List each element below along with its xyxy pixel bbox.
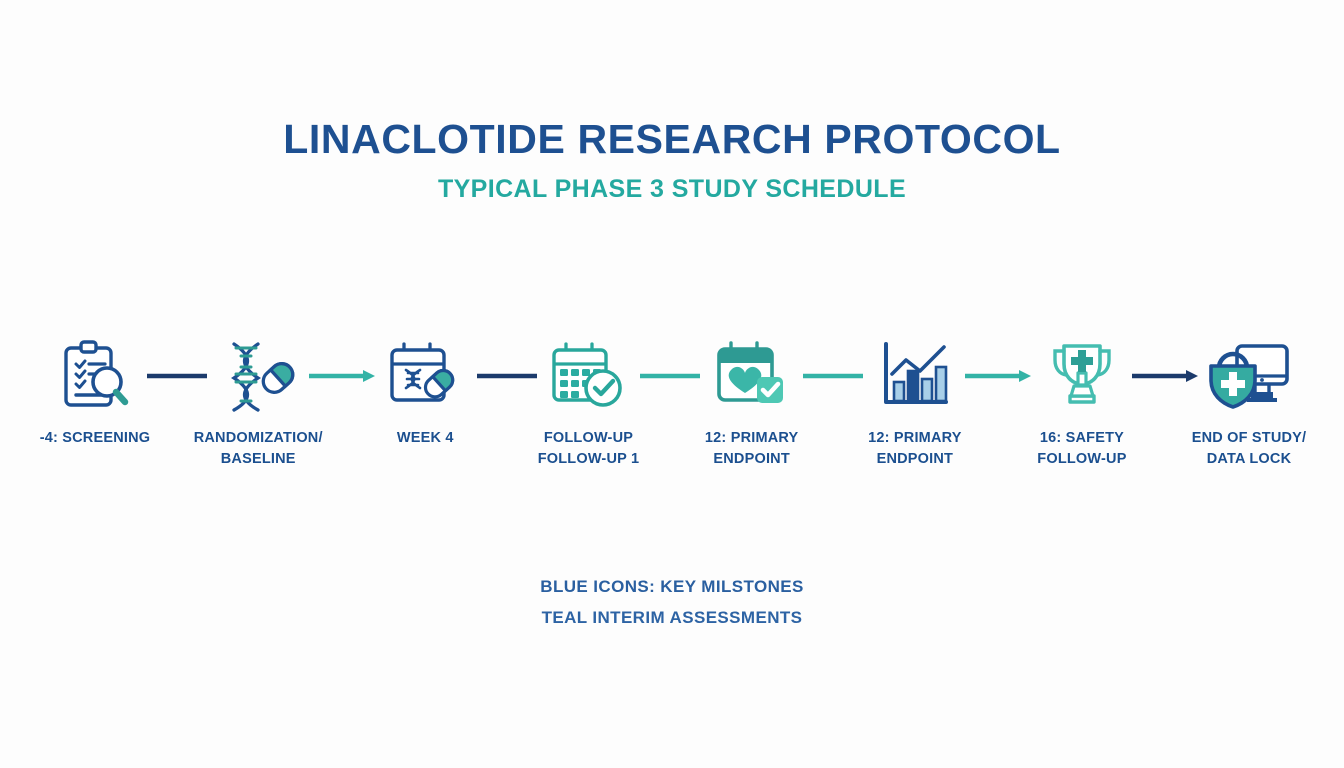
timeline-step-primary-endpoint-2[interactable]: 12: PRIMARY ENDPOINT xyxy=(854,338,976,470)
dna-capsule-icon xyxy=(208,338,308,414)
timeline-step-randomization[interactable]: RANDOMIZATION/ BASELINE xyxy=(197,338,319,470)
study-timeline: -4: SCREENING xyxy=(34,338,1310,470)
timeline-step-label: END OF STUDY/ DATA LOCK xyxy=(1192,428,1307,470)
page-subtitle: TYPICAL PHASE 3 STUDY SCHEDULE xyxy=(283,175,1060,204)
legend-line-blue: BLUE ICONS: KEY MILSTONES xyxy=(0,572,1344,603)
trophy-cross-icon xyxy=(1032,338,1132,414)
connector-6 xyxy=(976,338,1021,414)
monitor-shield-lock-icon xyxy=(1199,338,1299,414)
connector-2 xyxy=(319,338,364,414)
connector-7 xyxy=(1143,338,1188,414)
timeline-step-label: 12: PRIMARY ENDPOINT xyxy=(705,428,799,470)
timeline-step-label: -4: SCREENING xyxy=(40,428,151,449)
timeline-step-label: 16: SAFETY FOLLOW-UP xyxy=(1037,428,1126,470)
calendar-dna-capsule-icon xyxy=(375,338,475,414)
timeline-step-week-4[interactable]: WEEK 4 xyxy=(364,338,486,449)
timeline-step-label: RANDOMIZATION/ BASELINE xyxy=(194,428,323,470)
calendar-heart-check-icon xyxy=(702,338,802,414)
title-block: LINACLOTIDE RESEARCH PROTOCOL TYPICAL PH… xyxy=(283,118,1060,204)
timeline-step-follow-up-1[interactable]: FOLLOW-UP FOLLOW-UP 1 xyxy=(527,338,649,470)
connector-3 xyxy=(486,338,527,414)
timeline-step-label: FOLLOW-UP FOLLOW-UP 1 xyxy=(538,428,640,470)
timeline-step-screening[interactable]: -4: SCREENING xyxy=(34,338,156,449)
bar-chart-trend-icon xyxy=(865,338,965,414)
clipboard-search-icon xyxy=(45,338,145,414)
page-title: LINACLOTIDE RESEARCH PROTOCOL xyxy=(283,118,1060,161)
timeline-step-safety-follow-up[interactable]: 16: SAFETY FOLLOW-UP xyxy=(1021,338,1143,470)
legend-line-teal: TEAL INTERIM ASSESSMENTS xyxy=(0,603,1344,634)
connector-4 xyxy=(649,338,690,414)
timeline-step-label: WEEK 4 xyxy=(397,428,454,449)
timeline-step-primary-endpoint-1[interactable]: 12: PRIMARY ENDPOINT xyxy=(691,338,813,470)
calendar-check-icon xyxy=(538,338,638,414)
connector-5 xyxy=(813,338,854,414)
connector-1 xyxy=(156,338,197,414)
legend: BLUE ICONS: KEY MILSTONES TEAL INTERIM A… xyxy=(0,572,1344,633)
timeline-step-end-of-study[interactable]: END OF STUDY/ DATA LOCK xyxy=(1188,338,1310,470)
timeline-step-label: 12: PRIMARY ENDPOINT xyxy=(868,428,962,470)
protocol-timeline-poster: LINACLOTIDE RESEARCH PROTOCOL TYPICAL PH… xyxy=(0,0,1344,768)
